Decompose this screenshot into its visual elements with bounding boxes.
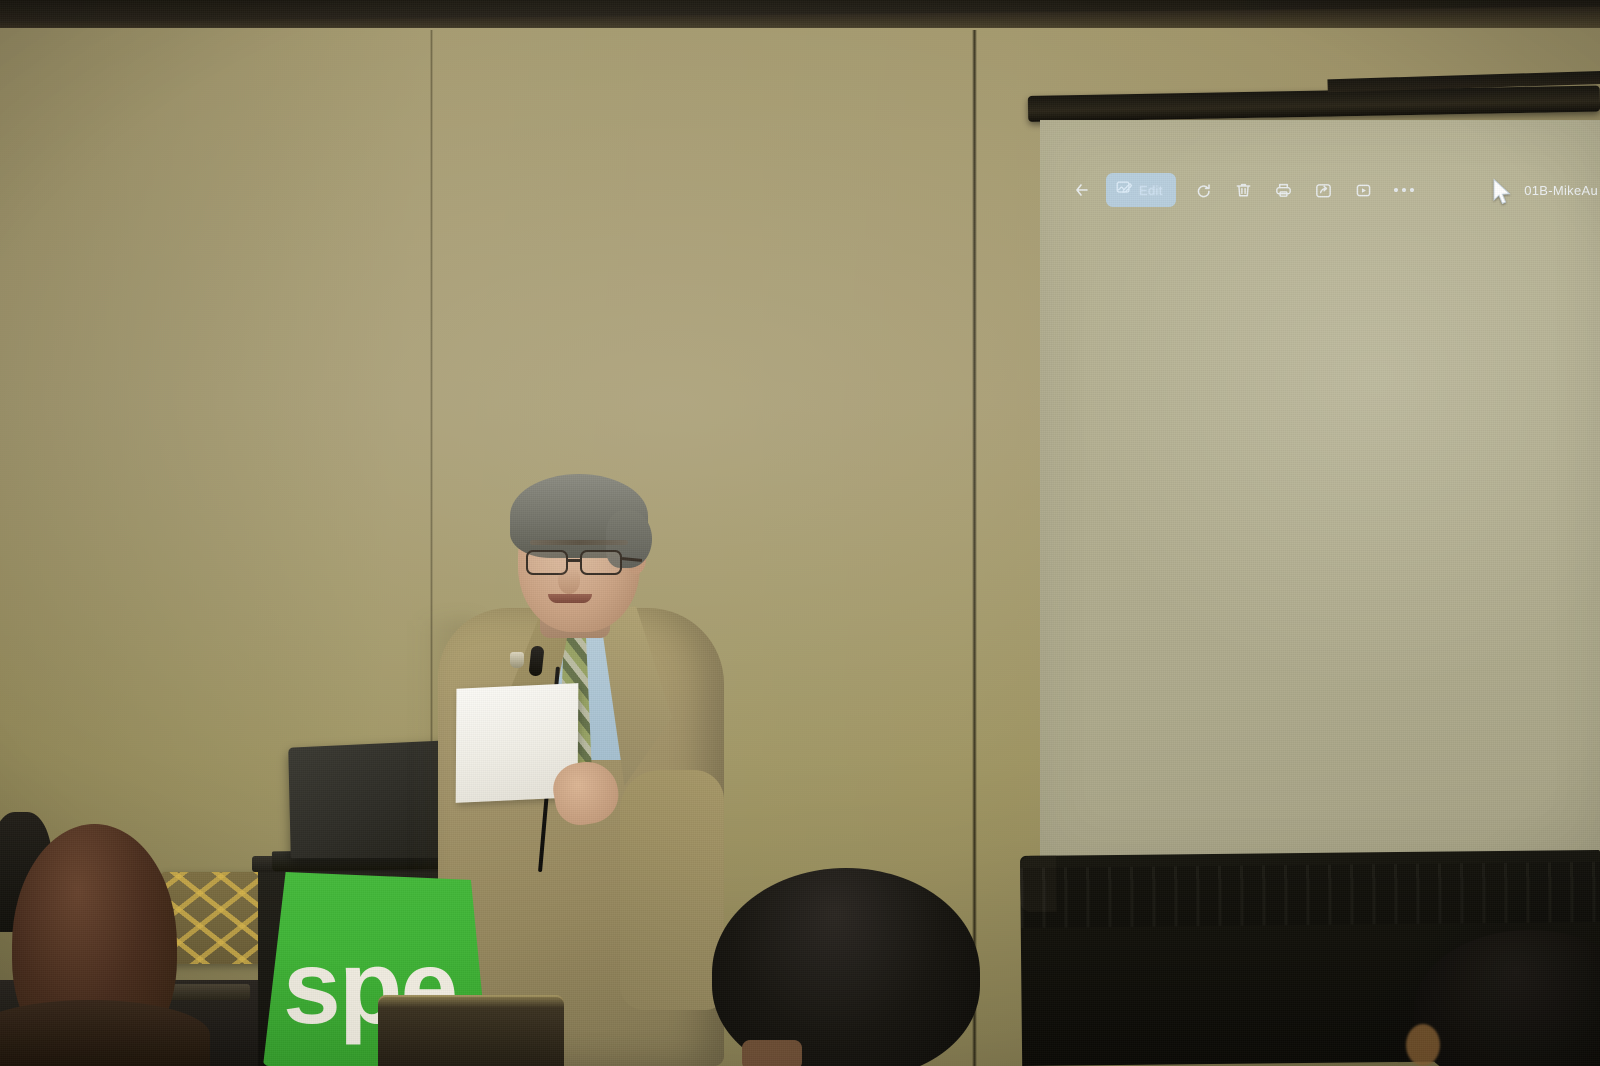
audience-neck-front-center bbox=[742, 1040, 802, 1066]
skirt-pleats bbox=[1020, 862, 1600, 928]
speaker-arm bbox=[620, 770, 724, 1010]
audience-head-front-center bbox=[712, 868, 980, 1066]
play-box-icon bbox=[1354, 181, 1373, 200]
delete-button[interactable] bbox=[1224, 174, 1264, 206]
print-button[interactable] bbox=[1264, 174, 1304, 206]
back-button[interactable] bbox=[1062, 174, 1102, 206]
speaker-mouth bbox=[548, 594, 592, 603]
screen-sheen bbox=[1040, 120, 1600, 862]
glasses-temple bbox=[622, 557, 642, 562]
projection-screen: Edit bbox=[1040, 120, 1600, 862]
speaker-hair bbox=[510, 474, 648, 558]
audience-ear-front-right bbox=[1406, 1024, 1440, 1066]
glasses-icon bbox=[522, 550, 640, 576]
presentation-photo-scene: Edit bbox=[0, 0, 1600, 1066]
share-button[interactable] bbox=[1304, 174, 1344, 206]
edit-button[interactable]: Edit bbox=[1106, 173, 1176, 207]
printer-icon bbox=[1274, 181, 1293, 200]
slideshow-button[interactable] bbox=[1344, 174, 1384, 206]
photos-app-toolbar: Edit bbox=[1040, 168, 1600, 212]
wall-panel-seam bbox=[972, 30, 977, 1066]
rotate-button[interactable] bbox=[1184, 174, 1224, 206]
share-icon bbox=[1314, 181, 1333, 200]
file-name-label: 01B-MikeAu bbox=[1524, 183, 1600, 198]
wooden-chair-back bbox=[378, 995, 564, 1066]
glasses-bridge bbox=[568, 559, 582, 562]
ellipsis-icon bbox=[1394, 188, 1414, 192]
glasses-lens-right bbox=[580, 550, 622, 575]
edit-button-label: Edit bbox=[1139, 183, 1163, 198]
lapel-pin bbox=[510, 652, 524, 668]
speaker-brow bbox=[530, 540, 628, 545]
rotate-icon bbox=[1194, 181, 1213, 200]
more-options-button[interactable] bbox=[1384, 174, 1424, 206]
edit-image-icon bbox=[1115, 179, 1133, 202]
speaker-nose bbox=[558, 568, 580, 594]
arrow-left-icon bbox=[1072, 180, 1092, 200]
trash-icon bbox=[1234, 181, 1253, 200]
